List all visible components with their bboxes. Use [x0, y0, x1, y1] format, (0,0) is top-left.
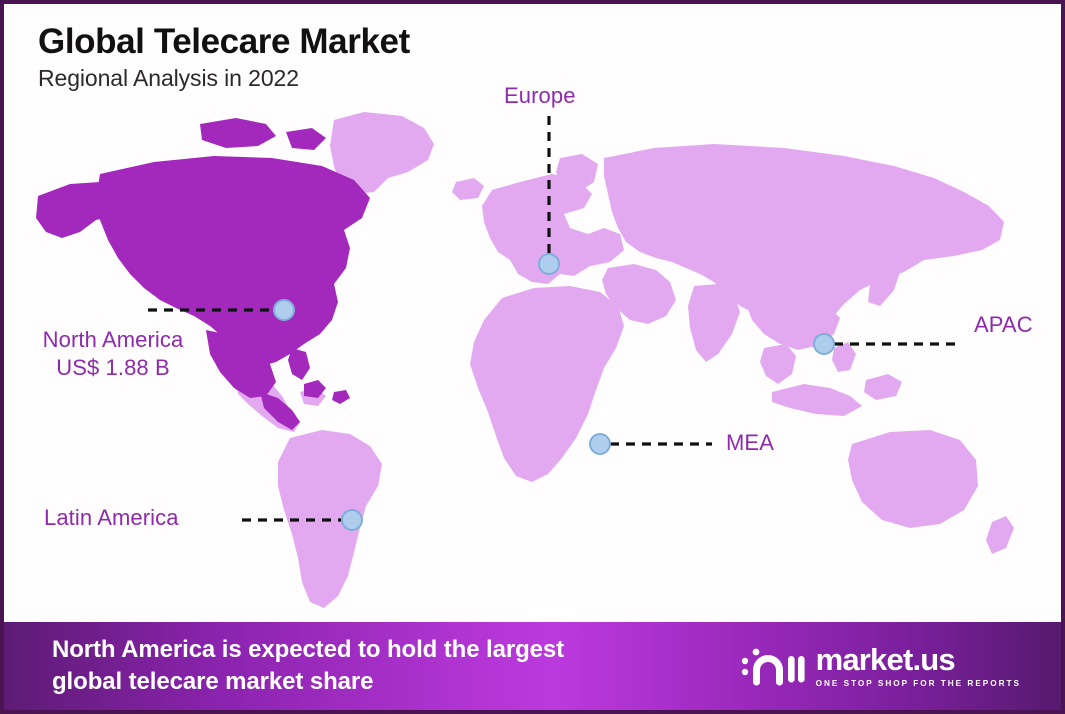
region-name-north-america: North America: [43, 327, 184, 352]
region-label-europe: Europe: [504, 82, 576, 110]
region-name-latin-america: Latin America: [44, 505, 179, 530]
header-block: Global Telecare Market Regional Analysis…: [38, 22, 410, 92]
map-region-north-america-highlight: [36, 118, 370, 430]
page-title: Global Telecare Market: [38, 22, 410, 62]
region-name-mea: MEA: [726, 430, 774, 455]
region-label-apac: APAC: [974, 311, 1033, 339]
region-label-north-america: North America US$ 1.88 B: [18, 326, 208, 382]
region-value-north-america: US$ 1.88 B: [18, 354, 208, 382]
logo-text-block: market.us ONE STOP SHOP FOR THE REPORTS: [816, 644, 1021, 688]
logo-tagline: ONE STOP SHOP FOR THE REPORTS: [816, 679, 1021, 688]
page-subtitle: Regional Analysis in 2022: [38, 65, 410, 92]
footer-banner: North America is expected to hold the la…: [4, 622, 1061, 710]
region-label-latin-america: Latin America: [44, 504, 179, 532]
region-name-europe: Europe: [504, 83, 576, 108]
footer-headline-line2: global telecare market share: [52, 666, 564, 698]
footer-headline-line1: North America is expected to hold the la…: [52, 634, 564, 666]
logo-mark-icon: [740, 642, 806, 691]
infographic-canvas: Global Telecare Market Regional Analysis…: [0, 0, 1065, 714]
region-label-mea: MEA: [726, 429, 774, 457]
market-us-logo: market.us ONE STOP SHOP FOR THE REPORTS: [740, 642, 1031, 691]
logo-wordmark: market.us: [816, 644, 1021, 675]
footer-headline: North America is expected to hold the la…: [52, 634, 564, 697]
region-name-apac: APAC: [974, 312, 1033, 337]
